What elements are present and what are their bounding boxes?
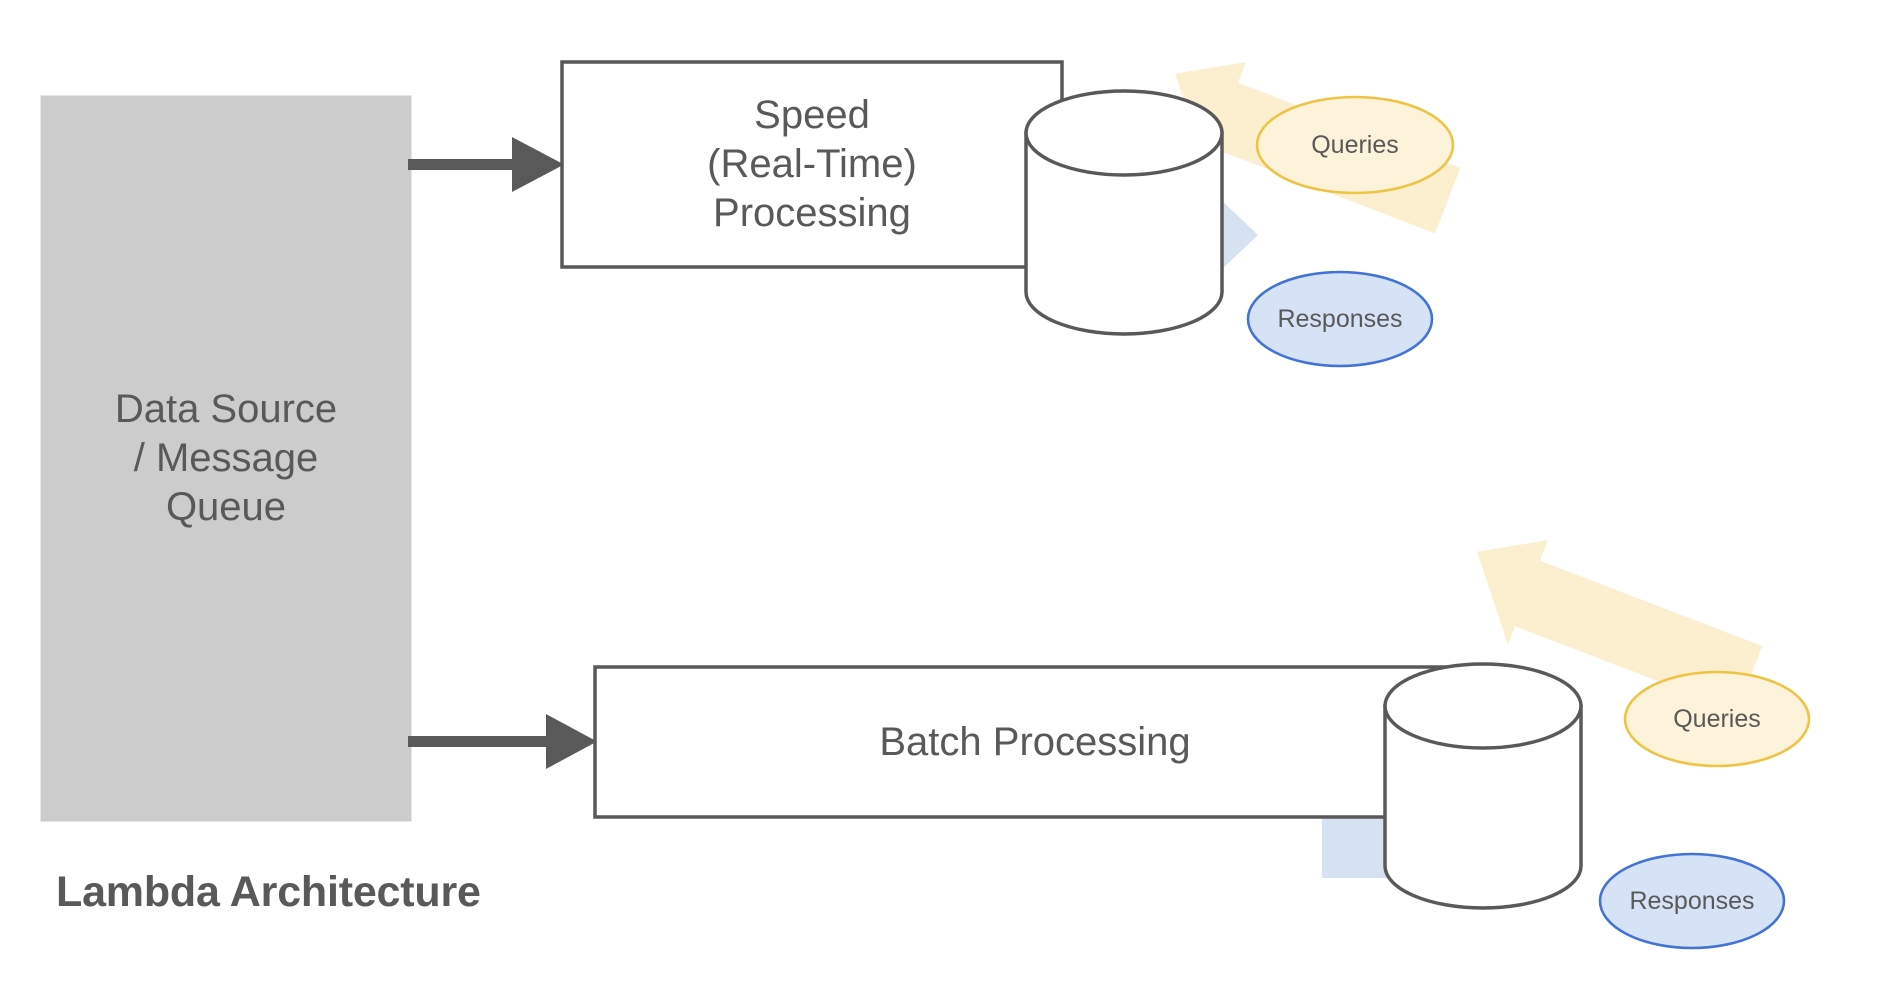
- batch-layer-box: [595, 667, 1475, 817]
- responses-top-ellipse: [1248, 272, 1432, 366]
- diagram-canvas: Data Source / Message Queue Speed (Real-…: [0, 0, 1878, 1002]
- diagram-title: Lambda Architecture: [56, 868, 481, 917]
- speed-store-cylinder: [1026, 91, 1222, 334]
- data-source-box: [41, 96, 411, 821]
- responses-bottom-ellipse: [1600, 854, 1784, 948]
- queries-top-ellipse: [1257, 97, 1453, 193]
- diagram-graphics: [0, 0, 1878, 1002]
- queries-bottom-ellipse: [1625, 672, 1809, 766]
- speed-layer-box: [562, 62, 1062, 267]
- batch-store-cylinder: [1385, 664, 1581, 908]
- source-to-speed-arrow: [408, 137, 564, 192]
- source-to-batch-arrow: [408, 714, 597, 769]
